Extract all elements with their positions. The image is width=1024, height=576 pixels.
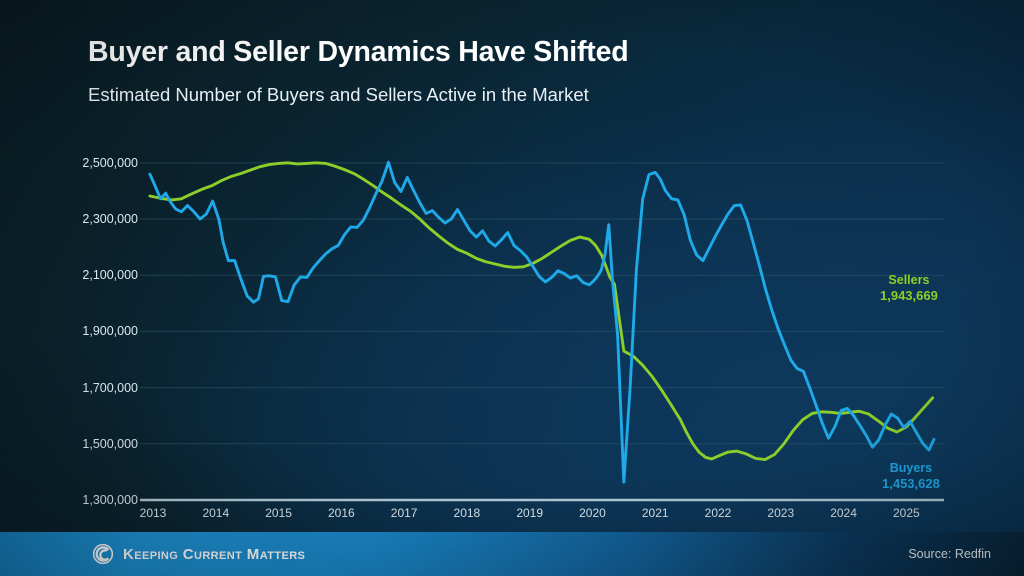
x-axis-tick-label: 2019 [516,506,543,520]
y-axis-tick-label: 1,900,000 [82,324,138,338]
slide-background: Buyer and Seller Dynamics Have Shifted E… [0,0,1024,576]
y-axis-tick-label: 1,300,000 [82,493,138,507]
x-axis-tick-label: 2014 [202,506,229,520]
y-axis-tick-label: 1,700,000 [82,381,138,395]
y-axis-tick-label: 2,100,000 [82,268,138,282]
line-chart [0,0,1024,576]
y-axis-labels: 1,300,0001,500,0001,700,0001,900,0002,10… [60,0,138,576]
brand: Keeping Current Matters [92,543,305,565]
y-axis-tick-label: 2,300,000 [82,212,138,226]
sellers-label: Sellers [880,272,938,288]
x-axis-tick-label: 2023 [767,506,794,520]
series-line-sellers [150,163,933,460]
footer-bar: Keeping Current Matters Source: Redfin [0,532,1024,576]
sellers-annotation: Sellers 1,943,669 [880,272,938,305]
buyers-value: 1,453,628 [882,476,940,493]
buyers-annotation: Buyers 1,453,628 [882,460,940,493]
swirl-circle-logo-icon [92,543,114,565]
y-axis-tick-label: 1,500,000 [82,437,138,451]
x-axis-tick-label: 2018 [454,506,481,520]
series-line-buyers [150,162,934,482]
x-axis-tick-label: 2021 [642,506,669,520]
x-axis-tick-label: 2017 [391,506,418,520]
y-axis-tick-label: 2,500,000 [82,156,138,170]
buyers-label: Buyers [882,460,940,476]
x-axis-tick-label: 2022 [705,506,732,520]
x-axis-tick-label: 2013 [140,506,167,520]
x-axis-tick-label: 2015 [265,506,292,520]
x-axis-tick-label: 2025 [893,506,920,520]
sellers-value: 1,943,669 [880,288,938,305]
x-axis-tick-label: 2016 [328,506,355,520]
x-axis-tick-label: 2020 [579,506,606,520]
source-attribution: Source: Redfin [908,547,991,561]
x-axis-tick-label: 2024 [830,506,857,520]
brand-text: Keeping Current Matters [123,546,305,563]
